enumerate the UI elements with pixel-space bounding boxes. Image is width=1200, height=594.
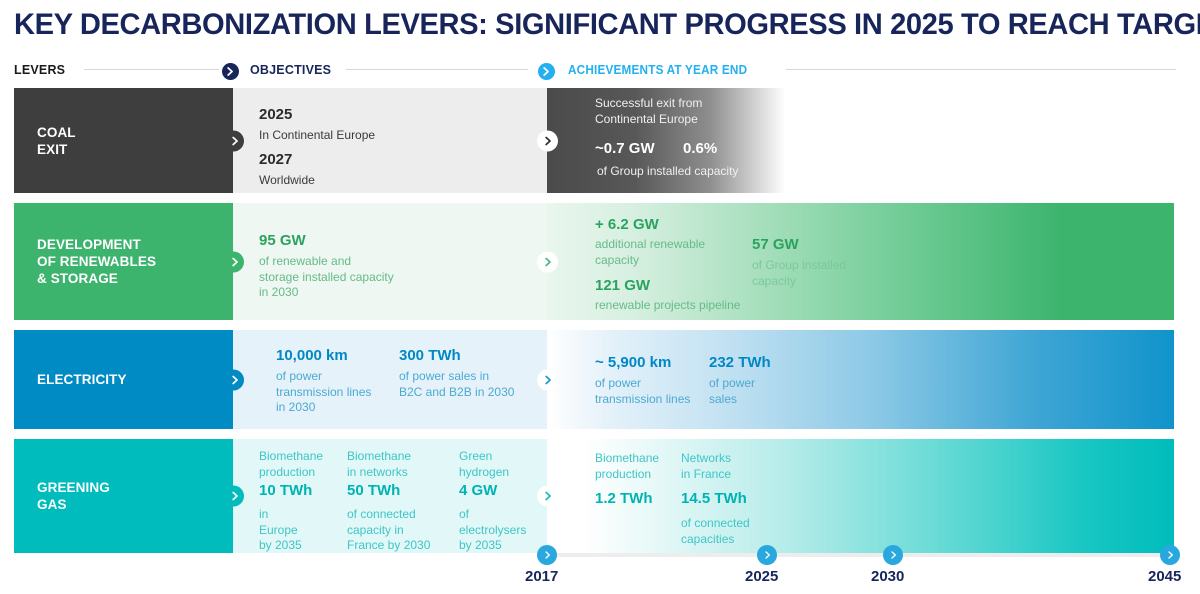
lever-block-coal: COAL EXIT [14,88,233,193]
achievement-caption: of power sales [709,376,771,407]
chevron-right-icon [223,369,244,390]
achievement-caption: of Group installed capacity [752,258,846,289]
chevron-right-circle-icon [222,63,239,80]
achievement-label: Networks in France [681,451,750,482]
objective-item: 2025 In Continental Europe [259,105,375,143]
timeline: 2017 2025 2030 2045 [0,545,1200,594]
objective-value: 50 TWh [347,481,430,501]
chevron-right-icon [223,130,244,151]
objective-item: Biomethane in networks 50 TWh of connect… [347,449,430,554]
lever-title: DEVELOPMENT OF RENEWABLES & STORAGE [37,236,156,287]
column-header-levers: LEVERS [14,58,65,82]
chevron-right-icon [223,251,244,272]
header-divider-line-2 [346,69,528,70]
lever-title: COAL EXIT [37,124,76,158]
achievement-item: 121 GW renewable projects pipeline [595,276,740,314]
lever-row-renewables: DEVELOPMENT OF RENEWABLES & STORAGE 95 G… [14,203,1174,320]
timeline-label-2017: 2017 [525,568,558,585]
timeline-label-2030: 2030 [871,568,904,585]
lever-row-coal: COAL EXIT 2025 In Continental Europe 202… [14,88,1174,193]
chevron-right-icon [537,369,558,390]
achievement-value: 14.5 TWh [681,489,750,509]
achievement-item: 232 TWh of power sales [709,353,771,407]
achievement-caption: additional renewable capacity [595,237,705,268]
objective-item: 95 GW of renewable and storage installed… [259,231,394,301]
achievement-item: 57 GW of Group installed capacity [752,235,846,289]
timeline-label-2045: 2045 [1148,568,1181,585]
header-divider-line-3 [786,69,1176,70]
achievements-cell-renewables: + 6.2 GW additional renewable capacity 1… [547,203,1174,320]
objective-label: Biomethane production [259,449,323,480]
lever-title: ELECTRICITY [37,371,127,388]
objective-value: 300 TWh [399,346,514,366]
objective-caption: of power sales in B2C and B2B in 2030 [399,369,514,400]
achievement-value: ~ 5,900 km [595,353,690,373]
objectives-cell-coal: 2025 In Continental Europe 2027 Worldwid… [233,88,547,193]
objective-caption: of renewable and storage installed capac… [259,254,394,301]
objective-caption: Worldwide [259,172,315,188]
achievement-value: 1.2 TWh [595,489,659,509]
achievement-headline: Successful exit from Continental Europe [595,96,702,127]
timeline-axis-line [547,553,1175,557]
achievement-caption: of power transmission lines [595,376,690,407]
lever-row-electricity: ELECTRICITY 10,000 km of power transmiss… [14,330,1174,429]
timeline-node-2017[interactable] [537,545,557,565]
chevron-right-icon [537,251,558,272]
objective-caption: In Continental Europe [259,127,375,143]
objective-label: Biomethane in networks [347,449,430,480]
chevron-right-icon [537,130,558,151]
achievement-label: Biomethane production [595,451,659,482]
objective-value: 4 GW [459,481,526,501]
timeline-node-2030[interactable] [883,545,903,565]
achievement-item: + 6.2 GW additional renewable capacity [595,215,705,268]
chevron-right-icon [537,486,558,507]
objective-item: Biomethane production 10 TWh in Europe b… [259,449,323,554]
objective-value: 2025 [259,105,375,125]
achievements-cell-electricity: ~ 5,900 km of power transmission lines 2… [547,330,1174,429]
objective-value: 10,000 km [276,346,371,366]
achievement-value: 0.6% [683,139,717,159]
objective-value: 2027 [259,150,315,170]
achievements-cell-greening-gas: Biomethane production 1.2 TWh Networks i… [547,439,1174,553]
objectives-cell-greening-gas: Biomethane production 10 TWh in Europe b… [233,439,547,553]
achievement-item: Networks in France 14.5 TWh of connected… [681,451,750,547]
timeline-node-2025[interactable] [757,545,777,565]
objective-item: 2027 Worldwide [259,150,315,188]
lever-row-greening-gas: GREENING GAS Biomethane production 10 TW… [14,439,1174,553]
lever-block-greening-gas: GREENING GAS [14,439,233,553]
objective-item: 10,000 km of power transmission lines in… [276,346,371,416]
achievement-value: 121 GW [595,276,740,296]
column-header-objectives: OBJECTIVES [250,58,331,82]
timeline-node-2045[interactable] [1160,545,1180,565]
chevron-right-circle-icon [538,63,555,80]
achievements-cell-coal: Successful exit from Continental Europe … [547,88,1174,193]
achievement-item: Biomethane production 1.2 TWh [595,451,659,509]
chevron-right-icon [223,486,244,507]
achievement-value: + 6.2 GW [595,215,705,235]
achievement-caption: of connected capacities [681,516,750,547]
objectives-cell-renewables: 95 GW of renewable and storage installed… [233,203,547,320]
achievement-value: ~0.7 GW [595,139,655,159]
objectives-cell-electricity: 10,000 km of power transmission lines in… [233,330,547,429]
achievement-value: 232 TWh [709,353,771,373]
objective-caption: of power transmission lines in 2030 [276,369,371,416]
objective-value: 10 TWh [259,481,323,501]
objective-item: 300 TWh of power sales in B2C and B2B in… [399,346,514,400]
objective-value: 95 GW [259,231,394,251]
objective-label: Green hydrogen [459,449,526,480]
column-header-achievements: ACHIEVEMENTS AT YEAR END [568,58,747,82]
column-header-row: LEVERS OBJECTIVES ACHIEVEMENTS AT YEAR E… [0,58,1200,82]
lever-block-electricity: ELECTRICITY [14,330,233,429]
lever-block-renewables: DEVELOPMENT OF RENEWABLES & STORAGE [14,203,233,320]
achievement-value: 57 GW [752,235,846,255]
header-divider-line-1 [84,69,219,70]
timeline-label-2025: 2025 [745,568,778,585]
objective-item: Green hydrogen 4 GW of electrolysers by … [459,449,526,554]
page-title: KEY DECARBONIZATION LEVERS: SIGNIFICANT … [14,6,1139,44]
achievement-footnote: of Group installed capacity [597,164,738,180]
achievement-caption: renewable projects pipeline [595,298,740,314]
achievement-item: ~ 5,900 km of power transmission lines [595,353,690,407]
lever-title: GREENING GAS [37,479,110,513]
